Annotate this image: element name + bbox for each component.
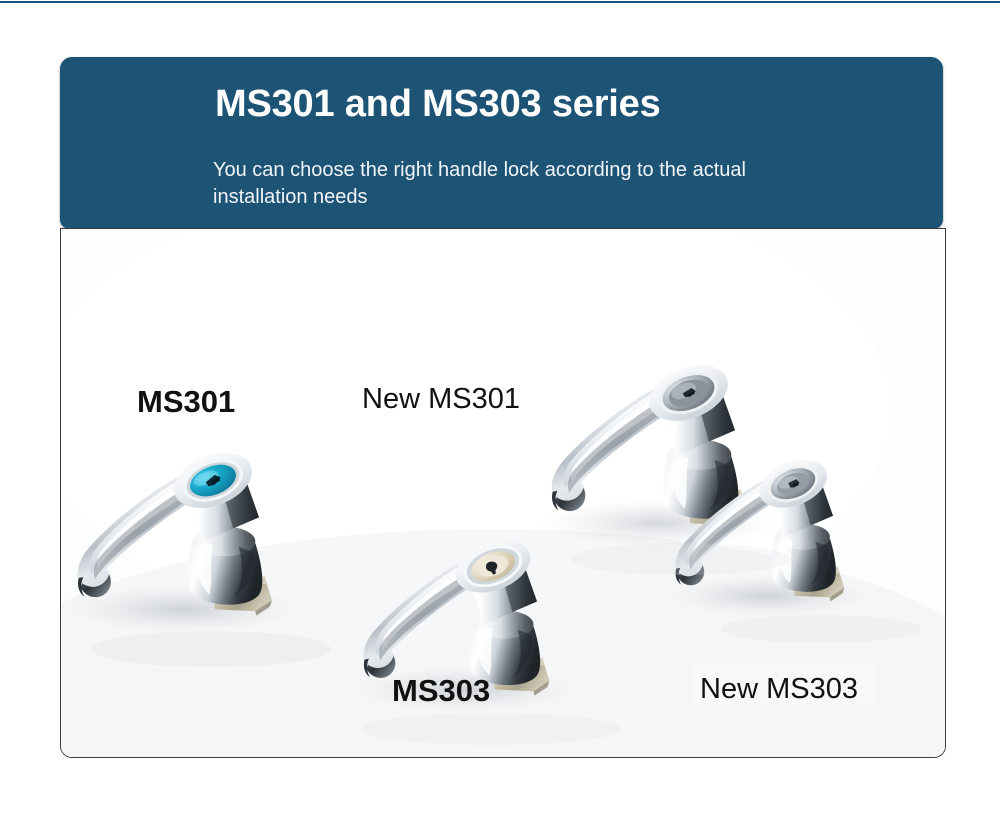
product-label-new-ms303: New MS303 bbox=[700, 675, 858, 704]
page-subtitle: You can choose the right handle lock acc… bbox=[213, 157, 813, 211]
product-label-ms303: MS303 bbox=[392, 675, 490, 706]
product-label-new-ms301: New MS301 bbox=[362, 385, 520, 414]
header-banner: MS301 and MS303 series You can choose th… bbox=[60, 57, 943, 229]
page-title: MS301 and MS303 series bbox=[215, 83, 661, 126]
product-label-ms301: MS301 bbox=[137, 386, 235, 417]
top-accent-rule bbox=[0, 1, 1000, 3]
product-showcase-page: MS301 and MS303 series You can choose th… bbox=[0, 0, 1000, 815]
